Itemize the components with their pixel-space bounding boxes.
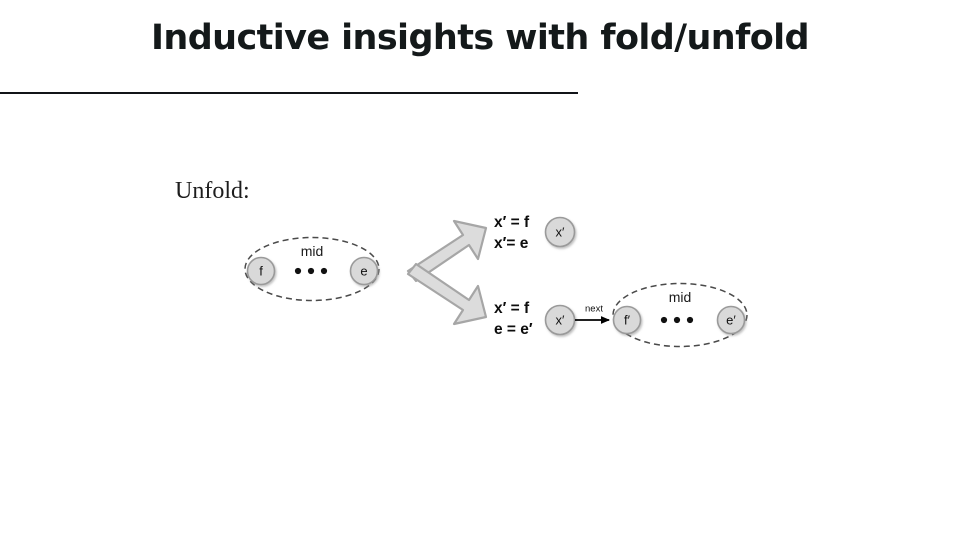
branch-bottom-group — [546, 284, 748, 347]
source-list-mid-label: mid — [301, 243, 324, 259]
branch-arrow-down — [408, 264, 486, 324]
node-label-e: e — [360, 264, 367, 279]
node-label-f-prime: f′ — [624, 313, 630, 328]
title-divider — [0, 92, 578, 94]
node-label-e-prime: e′ — [726, 313, 736, 328]
edge-label-next: next — [585, 304, 603, 315]
equation-line: x′ = f — [494, 212, 529, 233]
branch-bottom-equations: x′ = f e = e′ — [494, 298, 533, 340]
node-label-x-prime-bottom: x′ — [556, 313, 565, 328]
equation-line: x′= e — [494, 233, 529, 254]
split-arrows-group — [408, 221, 486, 324]
source-list-ellipsis — [295, 268, 327, 274]
page-title: Inductive insights with fold/unfold — [0, 18, 960, 58]
equation-line: x′ = f — [494, 298, 533, 319]
unfold-diagram — [0, 0, 960, 540]
branch-top-equations: x′ = f x′= e — [494, 212, 529, 254]
equation-line: e = e′ — [494, 319, 533, 340]
slide-canvas: Inductive insights with fold/unfold Unfo… — [0, 0, 960, 540]
branch-arrow-up — [408, 221, 486, 281]
node-label-x-prime-top: x′ — [556, 225, 565, 240]
result-list-mid-label: mid — [669, 289, 692, 305]
section-label-unfold: Unfold: — [175, 178, 250, 205]
result-list-ellipsis — [661, 317, 693, 323]
node-label-f: f — [259, 264, 263, 279]
